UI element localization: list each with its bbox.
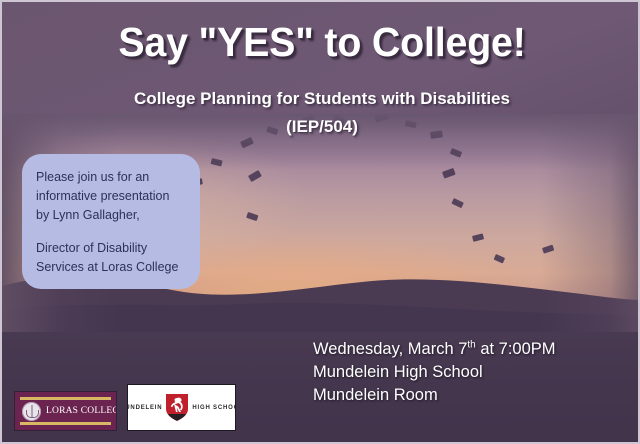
mustang-shield-icon: [165, 393, 189, 422]
mundelein-wordmark-left: MUNDELEIN: [127, 405, 162, 411]
presentation-callout: Please join us for an informative presen…: [22, 154, 200, 289]
poster-flyer: Say "YES" to College! College Planning f…: [0, 0, 640, 444]
event-datetime: Wednesday, March 7th at 7:00PM: [313, 338, 556, 361]
callout-paragraph-2: Director of Disability Services at Loras…: [36, 239, 186, 277]
page-title: Say "YES" to College!: [15, 18, 629, 66]
mundelein-high-school-logo: MUNDELEIN HIGH SCHOOL: [127, 384, 236, 431]
loras-college-logo: LORAS COLLEGE: [14, 391, 117, 431]
mundelein-wordmark-right: HIGH SCHOOL: [192, 405, 236, 411]
loras-crest-seal-icon: [22, 402, 41, 421]
loras-gold-bar-top: [20, 397, 111, 400]
loras-college-wordmark: LORAS COLLEGE: [46, 406, 117, 416]
event-date-prefix: Wednesday, March 7: [313, 340, 467, 358]
callout-paragraph-1: Please join us for an informative presen…: [36, 168, 186, 225]
page-subtitle: College Planning for Students with Disab…: [2, 87, 640, 110]
event-venue: Mundelein High School: [313, 361, 556, 384]
event-date-ordinal: th: [467, 340, 475, 351]
event-details: Wednesday, March 7th at 7:00PM Mundelein…: [313, 338, 556, 407]
event-time-suffix: at 7:00PM: [476, 340, 556, 358]
event-room: Mundelein Room: [313, 384, 556, 407]
page-subtitle-second-line: (IEP/504): [2, 115, 640, 138]
loras-gold-bar-bottom: [20, 422, 111, 425]
